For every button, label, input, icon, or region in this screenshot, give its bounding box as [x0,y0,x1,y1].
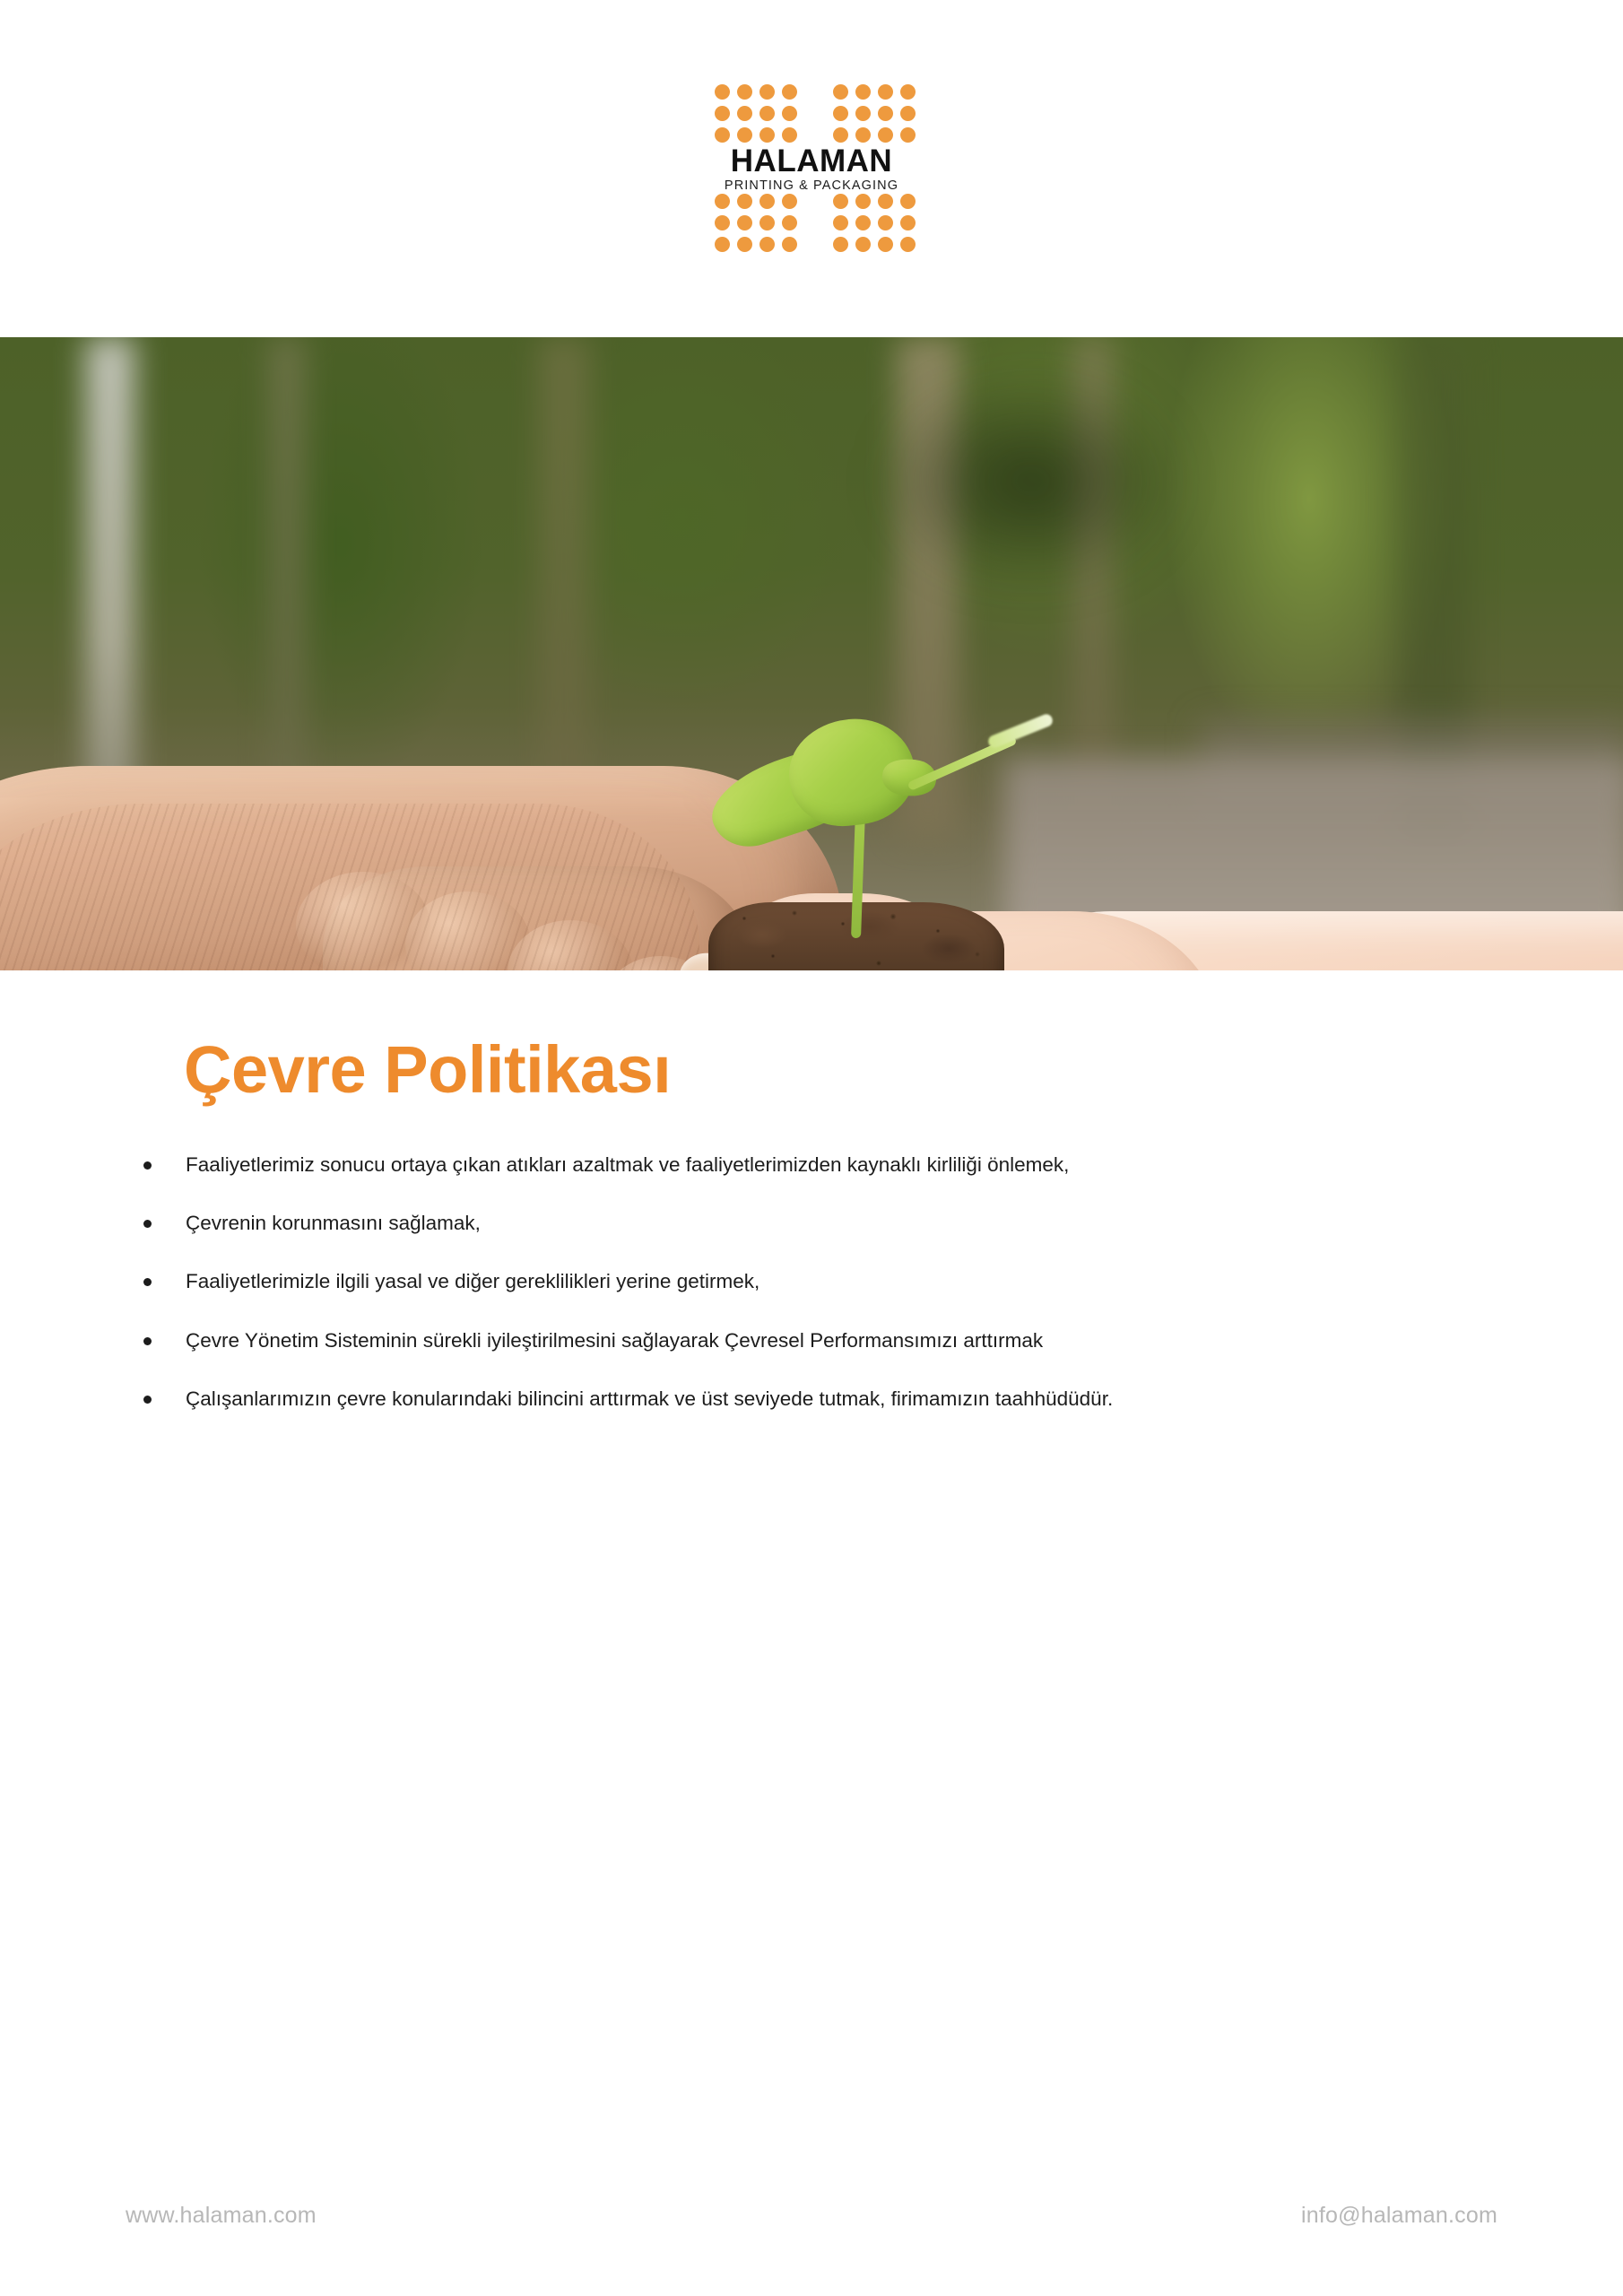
document-page: HALAMAN PRINTING & PACKAGING [0,0,1623,2296]
list-item: Çevre Yönetim Sisteminin sürekli iyileşt… [142,1327,1623,1354]
skin-wrinkle-texture [0,804,699,970]
page-title: Çevre Politikası [0,970,1623,1105]
logo-header: HALAMAN PRINTING & PACKAGING [0,0,1623,337]
dot-grid-top-left-icon [715,84,797,143]
main-content: Çevre Politikası Faaliyetlerimiz sonucu … [0,970,1623,1445]
list-item: Faaliyetlerimiz sonucu ortaya çıkan atık… [142,1152,1623,1178]
hero-shadow-patch [879,373,1184,588]
hero-tree-trunk [269,337,305,839]
dot-grid-top-right-icon [833,84,916,143]
page-footer: www.halaman.com info@halaman.com [0,2188,1623,2296]
policy-bullet-list: Faaliyetlerimiz sonucu ortaya çıkan atık… [0,1105,1623,1413]
hero-tree-trunk [538,337,590,839]
footer-email[interactable]: info@halaman.com [1301,2188,1497,2227]
logo-tagline: PRINTING & PACKAGING [707,179,916,193]
logo-wordmark: HALAMAN PRINTING & PACKAGING [707,145,916,193]
dot-grid-bottom-right-icon [833,194,916,252]
hero-tree-trunk [86,337,135,839]
halaman-logo: HALAMAN PRINTING & PACKAGING [707,77,916,260]
list-item: Çevrenin korunmasını sağlamak, [142,1210,1623,1237]
list-item: Çalışanlarımızın çevre konularındaki bil… [142,1386,1623,1413]
hero-image [0,337,1623,970]
list-item: Faaliyetlerimizle ilgili yasal ve diğer … [142,1268,1623,1295]
logo-company-name: HALAMAN [707,145,916,177]
footer-website[interactable]: www.halaman.com [126,2188,317,2227]
dot-grid-bottom-left-icon [715,194,797,252]
